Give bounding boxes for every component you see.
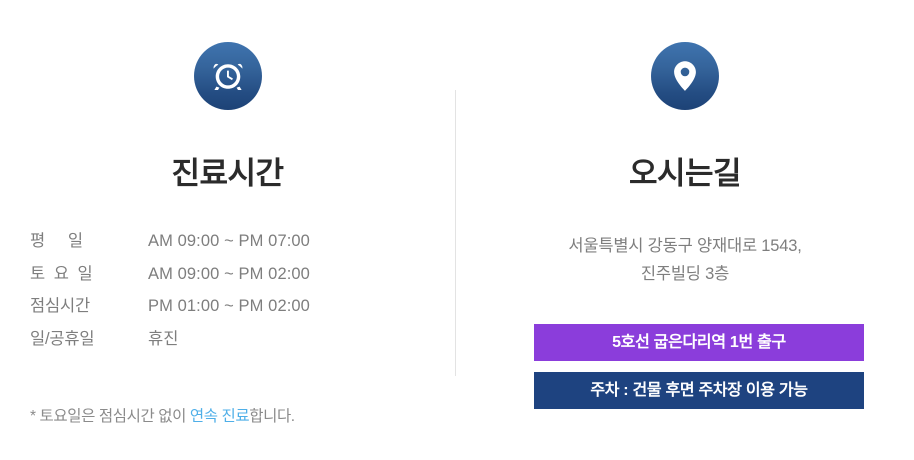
alarm-clock-icon — [194, 42, 262, 110]
table-row: 점심시간 PM 01:00 ~ PM 02:00 — [30, 296, 390, 329]
hours-column: 진료시간 평 일 AM 09:00 ~ PM 07:00 토 요 일 AM 09… — [0, 0, 455, 460]
hours-note-suffix: 합니다. — [249, 408, 295, 425]
hours-note-highlight: 연속 진료 — [190, 408, 249, 425]
clinic-info-panel: 진료시간 평 일 AM 09:00 ~ PM 07:00 토 요 일 AM 09… — [0, 0, 914, 460]
table-row: 토 요 일 AM 09:00 ~ PM 02:00 — [30, 264, 390, 297]
address-line-2: 진주빌딩 3층 — [456, 260, 914, 288]
hours-table: 평 일 AM 09:00 ~ PM 07:00 토 요 일 AM 09:00 ~… — [30, 231, 390, 362]
hours-icon-wrap — [0, 42, 455, 110]
hours-row-label: 토 요 일 — [30, 264, 148, 297]
hours-note-prefix: * 토요일은 점심시간 없이 — [30, 408, 190, 425]
address-line-1: 서울특별시 강동구 양재대로 1543, — [456, 232, 914, 260]
location-title: 오시는길 — [456, 155, 914, 192]
clinic-address: 서울특별시 강동구 양재대로 1543, 진주빌딩 3층 — [456, 232, 914, 289]
hours-row-value: AM 09:00 ~ PM 02:00 — [148, 264, 390, 297]
hours-row-value: 휴진 — [148, 329, 390, 362]
parking-info-button[interactable]: 주차 : 건물 후면 주차장 이용 가능 — [534, 372, 864, 409]
map-pin-icon — [651, 42, 719, 110]
subway-exit-button[interactable]: 5호선 굽은다리역 1번 출구 — [534, 324, 864, 361]
location-icon-wrap — [456, 42, 914, 110]
hours-row-label: 점심시간 — [30, 296, 148, 329]
hours-row-label: 일/공휴일 — [30, 329, 148, 362]
location-column: 오시는길 서울특별시 강동구 양재대로 1543, 진주빌딩 3층 5호선 굽은… — [456, 0, 914, 460]
hours-row-value: AM 09:00 ~ PM 07:00 — [148, 231, 390, 264]
hours-title: 진료시간 — [0, 155, 455, 192]
hours-row-label: 평 일 — [30, 231, 148, 264]
table-row: 평 일 AM 09:00 ~ PM 07:00 — [30, 231, 390, 264]
table-row: 일/공휴일 휴진 — [30, 329, 390, 362]
hours-note: * 토요일은 점심시간 없이 연속 진료합니다. — [30, 404, 295, 426]
hours-row-value: PM 01:00 ~ PM 02:00 — [148, 296, 390, 329]
location-buttons: 5호선 굽은다리역 1번 출구 주차 : 건물 후면 주차장 이용 가능 — [534, 324, 864, 409]
